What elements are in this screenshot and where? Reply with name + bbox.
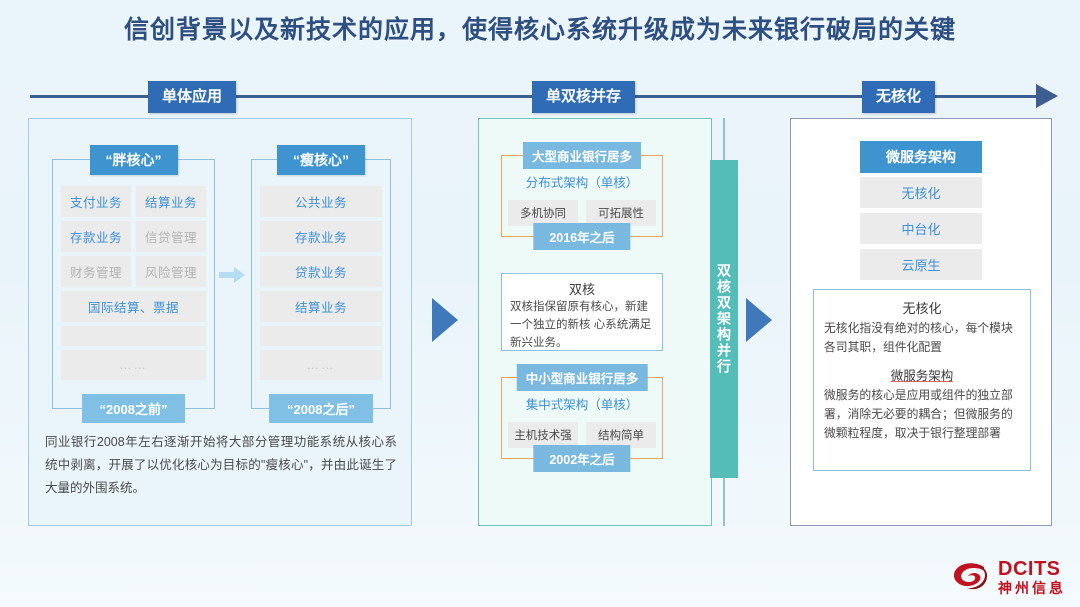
dual-architecture-bar-label: 双核双架构并行: [710, 160, 738, 478]
logo-text-en: DCITS: [998, 559, 1066, 579]
panel-dual-core: 大型商业银行居多 分布式架构（单核） 多机协同 可拓展性 2016年之后 双核 …: [478, 118, 712, 526]
microservice-header: 微服务架构: [860, 141, 982, 173]
teal-connector-bottom: [723, 478, 725, 526]
stage-arrow-2-icon: [746, 298, 772, 342]
coreless-note: 无核化 无核化指没有绝对的核心，每个模块各司其职，组件化配置 微服务架构 微服务…: [813, 289, 1031, 471]
panel-monolith: “胖核心” 支付业务结算业务存款业务信贷管理财务管理风险管理国际结算、票据…… …: [28, 118, 412, 526]
coreless-note-body2: 微服务的核心是应用或组件的独立部署，消除无必要的耦合；但微服务的微颗粒程度，取决…: [824, 386, 1020, 443]
thin-core-cell: 公共业务: [260, 186, 382, 217]
page-title: 信创背景以及新技术的应用，使得核心系统升级成为未来银行破局的关键: [0, 10, 1080, 46]
thin-core-cell: 贷款业务: [260, 256, 382, 287]
microservice-item-midplatform: 中台化: [860, 213, 982, 244]
fat-core-box: “胖核心” 支付业务结算业务存款业务信贷管理财务管理风险管理国际结算、票据…… …: [52, 159, 215, 409]
stage-arrow-1-icon: [432, 298, 458, 342]
large-bank-footer: 2016年之后: [533, 223, 630, 250]
fat-core-cell: 风险管理: [136, 256, 206, 287]
small-bank-block: 中小型商业银行居多 集中式架构（单核） 主机技术强 结构简单 2002年之后: [501, 377, 663, 459]
fat-core-cell: 财务管理: [61, 256, 131, 287]
fat-core-footer: “2008之前”: [82, 394, 186, 423]
small-bank-footer: 2002年之后: [533, 445, 630, 472]
fat-core-cell: [61, 326, 206, 346]
teal-connector-top: [723, 118, 725, 160]
logo-text-cn: 神州信息: [998, 581, 1066, 595]
timeline-stage-coreless[interactable]: 无核化: [862, 81, 935, 113]
thin-core-cell: 结算业务: [260, 291, 382, 322]
dual-core-note: 双核 双核指保留原有核心，新建一个独立的新核 心系统满足新兴业务。: [501, 273, 663, 351]
thin-core-box: “瘦核心” 公共业务存款业务贷款业务结算业务…… “2008之后”: [251, 159, 391, 409]
large-bank-block: 大型商业银行居多 分布式架构（单核） 多机协同 可拓展性 2016年之后: [501, 155, 663, 237]
timeline: 单体应用 单双核并存 无核化: [0, 78, 1080, 116]
dual-architecture-bar: 双核双架构并行: [710, 160, 738, 478]
thin-core-cell: ……: [260, 350, 382, 380]
thin-core-item-list: 公共业务存款业务贷款业务结算业务……: [260, 186, 382, 380]
monolith-caption: 同业银行2008年左右逐渐开始将大部分管理功能系统从核心系统中剥离，开展了以优化…: [45, 431, 397, 500]
fat-core-cell: 支付业务: [61, 186, 131, 217]
fat-core-cell: ……: [61, 350, 206, 380]
fat-core-cell: 信贷管理: [136, 221, 206, 252]
coreless-note-subtitle: 微服务架构: [824, 365, 1020, 384]
dcits-swirl-icon: [951, 560, 991, 594]
coreless-note-body: 无核化指没有绝对的核心，每个模块各司其职，组件化配置: [824, 319, 1020, 357]
thin-core-header: “瘦核心”: [277, 145, 365, 175]
logo-text-group: DCITS 神州信息: [998, 559, 1066, 595]
transition-arrow-icon: [219, 267, 245, 283]
small-bank-header: 中小型商业银行居多: [517, 364, 648, 391]
fat-core-item-list: 支付业务结算业务存款业务信贷管理财务管理风险管理国际结算、票据……: [61, 186, 206, 380]
thin-core-cell: 存款业务: [260, 221, 382, 252]
dual-core-note-title: 双核: [510, 279, 654, 298]
thin-core-cell: [260, 326, 382, 346]
timeline-arrow-icon: [1036, 84, 1058, 108]
fat-core-cell: 结算业务: [136, 186, 206, 217]
microservice-item-cloudnative: 云原生: [860, 249, 982, 280]
brand-logo: DCITS 神州信息: [951, 559, 1066, 595]
dual-core-note-body: 双核指保留原有核心，新建一个独立的新核 心系统满足新兴业务。: [510, 299, 654, 352]
timeline-stage-dual-core[interactable]: 单双核并存: [532, 81, 635, 113]
microservice-item-coreless: 无核化: [860, 177, 982, 208]
timeline-stage-monolith[interactable]: 单体应用: [148, 81, 236, 113]
fat-core-cell: 国际结算、票据: [61, 291, 206, 322]
fat-core-header: “胖核心”: [90, 145, 178, 175]
large-bank-subtitle: 分布式架构（单核）: [502, 172, 662, 191]
small-bank-subtitle: 集中式架构（单核）: [502, 394, 662, 413]
large-bank-header: 大型商业银行居多: [523, 142, 641, 169]
fat-core-cell: 存款业务: [61, 221, 131, 252]
coreless-note-title: 无核化: [824, 298, 1020, 317]
slide-canvas: 信创背景以及新技术的应用，使得核心系统升级成为未来银行破局的关键 单体应用 单双…: [0, 0, 1080, 607]
thin-core-footer: “2008之后”: [269, 394, 373, 423]
panel-coreless: 微服务架构 无核化 中台化 云原生 无核化 无核化指没有绝对的核心，每个模块各司…: [790, 118, 1052, 526]
